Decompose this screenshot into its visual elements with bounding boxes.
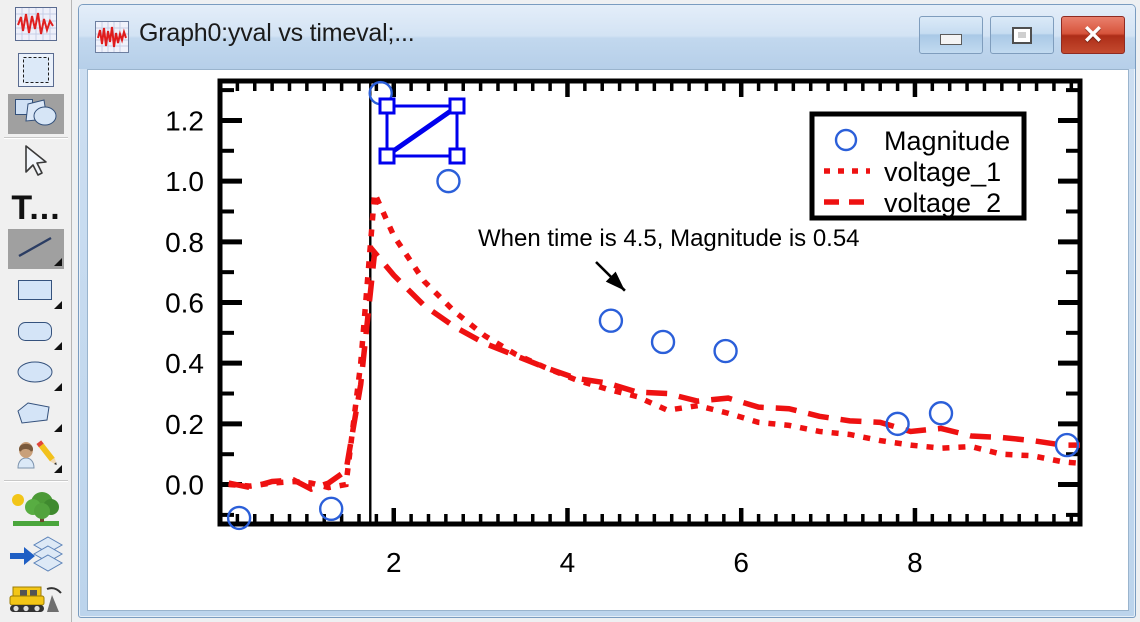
annotation-text: When time is 4.5, Magnitude is 0.54 [478, 225, 860, 252]
polygon-tool-dropdown-arrow-icon[interactable] [54, 424, 62, 432]
minimize-icon [940, 34, 962, 45]
legend-label: voltage_2 [884, 188, 1001, 218]
toolbar-item-graph-tool[interactable] [8, 6, 64, 46]
line-object[interactable] [389, 108, 455, 154]
left-toolbar: T... [0, 0, 72, 622]
shapes-icon [11, 95, 61, 134]
selection-handle[interactable] [450, 99, 464, 113]
toolbar-item-scene-tool[interactable] [8, 488, 64, 532]
window-title: Graph0:yval vs timeval;... [139, 19, 414, 48]
close-icon: ✕ [1083, 23, 1104, 48]
y-tick-label: 1.2 [165, 105, 204, 136]
maximize-icon [1012, 27, 1032, 44]
y-tick-label: 0.6 [165, 288, 204, 319]
text-icon: T... [11, 191, 60, 225]
ellipse-tool-dropdown-arrow-icon[interactable] [54, 383, 62, 391]
app-root: T... [0, 0, 1140, 622]
series-line-voltage_2 [229, 252, 1080, 489]
toolbar-item-shapes-tool[interactable] [8, 94, 64, 134]
data-point [600, 310, 622, 332]
annotate-tool-dropdown-arrow-icon[interactable] [54, 465, 62, 473]
plot-canvas[interactable]: 24680.00.20.40.60.81.01.2When time is 4.… [87, 69, 1129, 611]
line-tool-dropdown-arrow-icon[interactable] [54, 258, 62, 266]
window-buttons: ✕ [919, 16, 1125, 54]
toolbar-item-line-tool[interactable] [8, 229, 64, 269]
y-tick-label: 0.4 [165, 348, 204, 379]
data-point [715, 340, 737, 362]
x-tick-label: 4 [560, 547, 576, 578]
data-point [930, 402, 952, 424]
marquee-select-icon [18, 53, 54, 92]
toolbar-item-rectangle-tool[interactable] [8, 272, 64, 312]
data-point [320, 498, 342, 520]
x-tick-label: 6 [733, 547, 749, 578]
minimize-button[interactable] [919, 16, 983, 54]
toolbar-item-select-region-tool[interactable] [8, 52, 64, 92]
toolbar-separator-1 [4, 137, 68, 139]
selected-line-object[interactable] [380, 99, 464, 163]
rectangle-tool-dropdown-arrow-icon[interactable] [54, 301, 62, 309]
bulldozer-icon [7, 579, 65, 622]
y-tick-label: 1.0 [165, 166, 204, 197]
chart-plot-area[interactable]: 24680.00.20.40.60.81.01.2When time is 4.… [88, 70, 1129, 611]
toolbar-item-ellipse-tool[interactable] [8, 354, 64, 394]
ellipse-icon [14, 358, 58, 391]
y-tick-label: 0.2 [165, 409, 204, 440]
data-point [652, 331, 674, 353]
toolbar-item-text-tool[interactable]: T... [8, 188, 64, 228]
window-titlebar[interactable]: Graph0:yval vs timeval;... ✕ [79, 5, 1135, 69]
rounded-rectangle-tool-dropdown-arrow-icon[interactable] [54, 342, 62, 350]
data-point [437, 170, 459, 192]
graph-window: Graph0:yval vs timeval;... ✕ 24680.00.20… [78, 4, 1136, 618]
y-tick-label: 0.8 [165, 227, 204, 258]
selection-handle[interactable] [380, 99, 394, 113]
rounded-rectangle-icon [14, 317, 58, 350]
rectangle-icon [14, 276, 58, 309]
toolbar-item-annotate-tool[interactable] [8, 436, 64, 476]
waveform-graph-icon [15, 7, 57, 46]
toolbar-item-rounded-rectangle-tool[interactable] [8, 313, 64, 353]
selection-handle[interactable] [450, 149, 464, 163]
legend-label: voltage_1 [884, 157, 1001, 187]
maximize-button[interactable] [990, 16, 1054, 54]
selection-handle[interactable] [380, 149, 394, 163]
legend-label: Magnitude [884, 126, 1010, 156]
toolbar-item-polygon-tool[interactable] [8, 395, 64, 435]
chart-legend[interactable]: Magnitudevoltage_1voltage_2 [812, 114, 1024, 218]
toolbar-item-pointer-tool[interactable] [8, 143, 64, 183]
toolbar-separator-2 [4, 480, 68, 482]
x-tick-label: 8 [907, 547, 923, 578]
arrow-pointer-icon [23, 144, 49, 183]
toolbar-item-layers-tool[interactable] [8, 533, 64, 577]
line-icon [14, 233, 58, 266]
y-tick-label: 0.0 [165, 470, 204, 501]
polygon-icon [14, 399, 58, 432]
close-button[interactable]: ✕ [1061, 16, 1125, 54]
waveform-icon [95, 21, 129, 53]
layers-arrow-icon [8, 534, 64, 577]
x-tick-label: 2 [386, 547, 402, 578]
tree-sun-icon [9, 488, 63, 533]
toolbar-item-bulldozer-tool[interactable] [8, 578, 64, 622]
